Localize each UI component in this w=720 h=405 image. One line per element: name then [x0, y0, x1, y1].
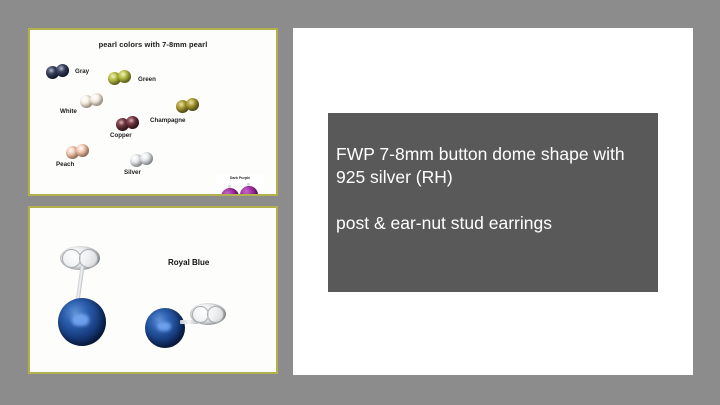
slide-canvas: pearl colors with 7-8mm pearl Gray Green… — [0, 0, 720, 405]
pearl-swatch-peach — [66, 144, 92, 160]
pearl-colors-title: pearl colors with 7-8mm pearl — [30, 40, 276, 49]
description-text: FWP 7-8mm button dome shape with 925 sil… — [336, 143, 648, 235]
dark-purple-inset-photo: Dark Purple — [216, 175, 264, 196]
pearl-label-peach: Peach — [56, 161, 74, 168]
pearl-sphere — [126, 116, 139, 129]
pearl-swatch-copper — [116, 116, 142, 132]
royal-blue-pearl — [145, 308, 185, 348]
pearl-label-copper: Copper — [110, 132, 132, 139]
dark-purple-stud — [221, 188, 239, 196]
pearl-swatch-silver — [130, 152, 156, 168]
royal-blue-pearl — [58, 298, 106, 346]
pearl-label-gray: Gray — [75, 68, 89, 75]
ear-nut — [190, 303, 226, 325]
pearl-sphere — [140, 152, 153, 165]
pearl-label-champagne: Champagne — [150, 117, 185, 124]
pearl-swatch-gray — [46, 64, 72, 80]
pearl-sphere — [118, 70, 131, 83]
pearl-label-green: Green — [138, 76, 156, 83]
pearl-sphere — [186, 98, 199, 111]
pearl-sphere — [56, 64, 69, 77]
royal-blue-photo: Royal Blue — [30, 208, 276, 372]
pearl-label-silver: Silver — [124, 169, 141, 176]
royal-blue-label: Royal Blue — [168, 258, 209, 267]
pearl-label-white: White — [60, 108, 77, 115]
description-box: FWP 7-8mm button dome shape with 925 sil… — [328, 113, 658, 292]
pearl-sphere — [76, 144, 89, 157]
pearl-swatch-green — [108, 70, 134, 86]
pearl-colors-image-card[interactable]: pearl colors with 7-8mm pearl Gray Green… — [28, 28, 278, 196]
royal-blue-image-card[interactable]: Royal Blue — [28, 206, 278, 374]
pearl-swatch-champagne — [176, 98, 202, 114]
dark-purple-stud — [240, 186, 258, 196]
earring-post — [76, 266, 85, 302]
pearl-label-dark-purple: Dark Purple — [216, 176, 264, 180]
pearl-swatch-white — [80, 93, 106, 109]
pearl-sphere — [90, 93, 103, 106]
pearl-colors-photo: pearl colors with 7-8mm pearl Gray Green… — [30, 30, 276, 194]
